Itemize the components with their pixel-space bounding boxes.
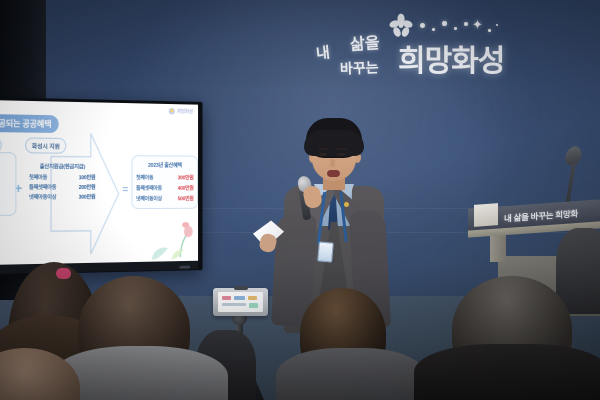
photo-scene: ✦ 내 삶을 바꾸는 희망화성 희망화성 제공되는 공공혜택 지원 화성시 지원… <box>0 0 600 400</box>
scene-vignette <box>0 0 600 400</box>
